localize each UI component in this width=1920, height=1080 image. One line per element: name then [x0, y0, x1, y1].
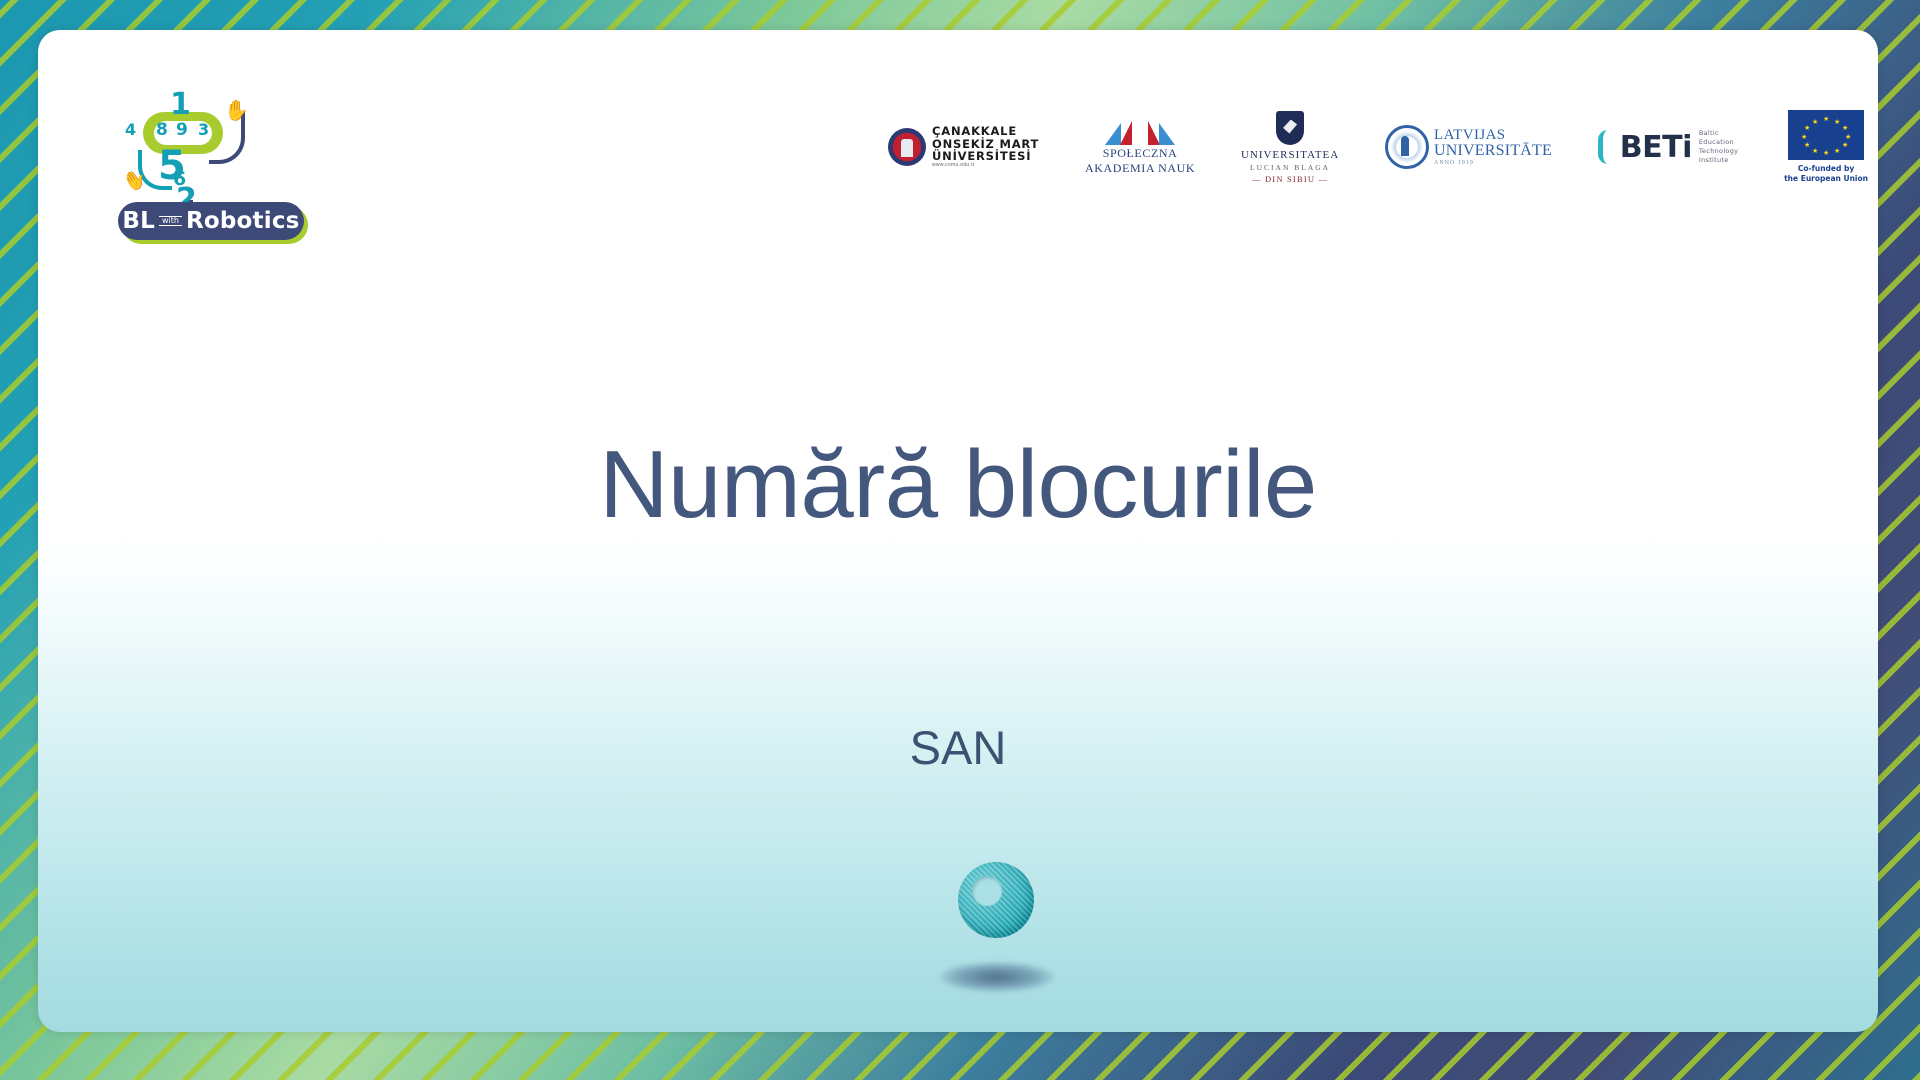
ulbs-line-1: UNIVERSITATEA — [1241, 149, 1339, 161]
partner-logo-canakkale: ÇANAKKALE ONSEKİZ MART ÜNİVERSİTESİ www.… — [888, 107, 1039, 187]
san-line-2: AKADEMIA NAUK — [1085, 162, 1195, 175]
sphere-shadow — [940, 962, 1054, 992]
beti-swoosh-icon — [1598, 130, 1615, 164]
partner-logo-european-union: ★ ★ ★ ★ ★ ★ ★ ★ ★ ★ ★ ★ Co-funded by the… — [1784, 107, 1868, 187]
canakkale-line-1: ÇANAKKALE — [932, 125, 1039, 137]
logo-number-4: 4 — [125, 122, 136, 138]
robot-hand-right-icon: ✋ — [224, 102, 242, 120]
ulbs-line-2: LUCIAN BLAGA — [1250, 163, 1330, 172]
beti-wordmark: BETi — [1620, 130, 1692, 165]
robot-hand-left-icon: ✋ — [120, 170, 145, 195]
slide-canvas: ✋ ✋ 1 4 3 8 9 5 6 2 BL with Robotics — [0, 0, 1920, 1080]
logo-badge-suffix: Robotics — [186, 208, 300, 234]
logo-badge-prefix: BL — [122, 208, 155, 234]
sphere-hole-icon — [972, 876, 1002, 906]
logo-badge-middle: with — [159, 216, 182, 226]
sphere-graphic — [918, 850, 1098, 1010]
logo-number-1: 1 — [170, 90, 191, 120]
lu-line-2: UNIVERSITĀTE — [1434, 143, 1552, 159]
logo-number-9: 9 — [176, 122, 188, 139]
presentation-slide: ✋ ✋ 1 4 3 8 9 5 6 2 BL with Robotics — [38, 30, 1878, 1032]
san-line-1: SPOŁECZNA — [1103, 147, 1178, 160]
eu-funding-caption: Co-funded by the European Union — [1784, 164, 1868, 184]
lu-line-3: ANNO 1919 — [1434, 160, 1552, 166]
logo-number-3: 3 — [198, 122, 209, 138]
latvia-tree-emblem-icon — [1385, 125, 1429, 169]
partner-logo-lucian-blaga: UNIVERSITATEA LUCIAN BLAGA — DIN SIBIU — — [1241, 107, 1339, 187]
canakkale-seal-icon — [888, 128, 926, 166]
logo-badge: BL with Robotics — [118, 202, 304, 240]
open-book-icon — [1103, 119, 1177, 145]
partner-logo-strip: ÇANAKKALE ONSEKİZ MART ÜNİVERSİTESİ www.… — [888, 102, 1868, 192]
eu-flag-icon: ★ ★ ★ ★ ★ ★ ★ ★ ★ ★ ★ ★ — [1788, 110, 1864, 160]
slide-subtitle: SAN — [38, 720, 1878, 775]
partner-logo-latvijas-universitate: LATVIJAS UNIVERSITĀTE ANNO 1919 — [1385, 107, 1552, 187]
canakkale-line-3: ÜNİVERSİTESİ — [932, 150, 1039, 162]
ulbs-line-3: — DIN SIBIU — — [1252, 174, 1328, 184]
shield-crest-icon — [1276, 111, 1304, 145]
slide-title: Numără blocurile — [38, 430, 1878, 540]
canakkale-url: www.comu.edu.tr — [932, 163, 1039, 168]
logo-number-8: 8 — [156, 122, 168, 139]
partner-logo-beti: BETi Baltic Education Technology Institu… — [1598, 107, 1739, 187]
bl-robotics-logo: ✋ ✋ 1 4 3 8 9 5 6 2 BL with Robotics — [116, 90, 316, 245]
partner-logo-spoleczna-akademia-nauk: SPOŁECZNA AKADEMIA NAUK — [1085, 107, 1195, 187]
lu-line-1: LATVIJAS — [1434, 128, 1552, 143]
beti-tagline: Baltic Education Technology Institute — [1699, 129, 1738, 164]
